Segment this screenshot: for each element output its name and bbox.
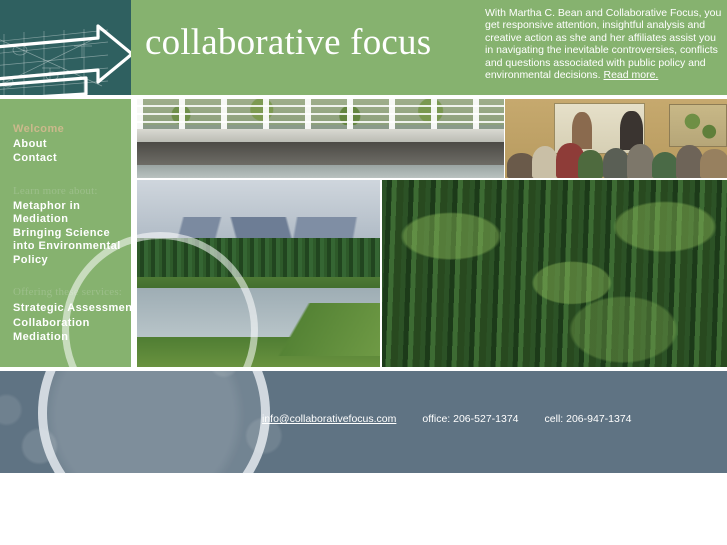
arrow-blueprint-logo-icon xyxy=(0,24,131,95)
sidebar-group-learn: Learn more about: Metaphor in Mediation … xyxy=(13,184,133,268)
sidebar-item-mediation[interactable]: Mediation xyxy=(13,330,133,345)
logo-panel[interactable] xyxy=(0,0,131,95)
bridge-rail-posts xyxy=(137,99,504,132)
site-title: collaborative focus xyxy=(145,21,431,65)
bridge-curb xyxy=(137,129,504,143)
sidebar-item-strategic-assessment[interactable]: Strategic Assessment xyxy=(13,301,133,316)
sidebar-item-welcome[interactable]: Welcome xyxy=(13,122,133,137)
audience-head xyxy=(532,146,559,178)
sidebar-group-services: Offering these services: Strategic Asses… xyxy=(13,285,133,345)
sidebar-item-bringing-science-into-environmental-policy[interactable]: Bringing Science into Environmental Poli… xyxy=(13,227,133,268)
audience-head xyxy=(627,144,654,178)
bridge-railing-photo xyxy=(137,99,504,178)
bridge-rail-line xyxy=(137,121,504,123)
sidebar-item-collaboration[interactable]: Collaboration xyxy=(13,316,133,331)
sidebar-item-metaphor-in-mediation[interactable]: Metaphor in Mediation xyxy=(13,200,133,227)
intro-blurb: With Martha C. Bean and Collaborative Fo… xyxy=(485,7,723,81)
footer-office-phone: office: 206-527-1374 xyxy=(422,412,518,426)
bridge-rail-line xyxy=(137,113,504,115)
sidebar-group-title-services: Offering these services: xyxy=(13,285,133,299)
bridge-deck xyxy=(137,142,504,166)
footer-contact-bar: info@collaborativefocus.com office: 206-… xyxy=(262,410,682,428)
footer-circle-decoration xyxy=(38,371,270,473)
sidebar: Welcome About Contact Learn more about: … xyxy=(0,99,131,367)
site-header: collaborative focus With Martha C. Bean … xyxy=(0,0,727,95)
forest-hillside-photo xyxy=(382,180,727,367)
audience-head xyxy=(578,150,602,178)
audience-head xyxy=(603,148,630,178)
river-treeline xyxy=(137,238,380,283)
bridge-water xyxy=(137,165,504,178)
sidebar-group-title-learn: Learn more about: xyxy=(13,184,133,198)
page-root: collaborative focus With Martha C. Bean … xyxy=(0,0,727,545)
audience-head xyxy=(652,152,679,178)
sidebar-item-contact[interactable]: Contact xyxy=(13,151,133,166)
read-more-link[interactable]: Read more. xyxy=(603,69,658,81)
river-grass-spit xyxy=(268,303,380,355)
site-footer: info@collaborativefocus.com office: 206-… xyxy=(0,371,727,473)
audience-head xyxy=(700,149,727,178)
footer-cell-phone: cell: 206-947-1374 xyxy=(545,412,632,426)
river-mountains-photo xyxy=(137,180,380,367)
sidebar-item-about[interactable]: About xyxy=(13,137,133,152)
meeting-audience xyxy=(505,137,727,178)
footer-email-link[interactable]: info@collaborativefocus.com xyxy=(262,412,396,426)
sidebar-nav: Welcome About Contact Learn more about: … xyxy=(13,122,133,345)
audience-head xyxy=(676,145,703,178)
meeting-presentation-photo xyxy=(505,99,727,178)
forest-sunlight xyxy=(382,180,727,367)
bridge-rail-line xyxy=(137,105,504,107)
